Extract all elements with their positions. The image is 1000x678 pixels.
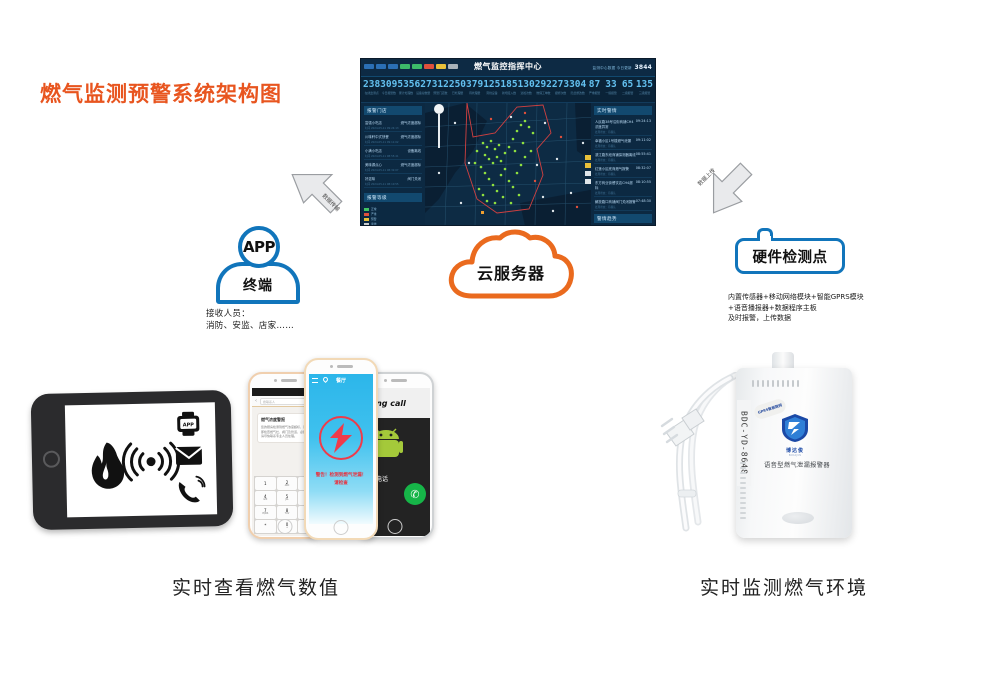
svg-text:APP: APP — [183, 422, 195, 428]
vent-slot — [740, 487, 746, 489]
legend-label: 正常 — [371, 207, 377, 211]
kpi-value: 135 — [636, 80, 653, 90]
app-label: APP — [243, 238, 275, 256]
store-status: 燃气浓度超标 — [401, 134, 421, 139]
pie-legend: 正常严重预警离线 — [364, 207, 422, 226]
home-button[interactable] — [278, 519, 293, 534]
store-status: 设备离线 — [407, 148, 421, 153]
vent-slot — [787, 380, 789, 387]
store-status: 燃气浓度超标 — [401, 120, 421, 125]
city-map[interactable] — [425, 103, 591, 226]
store-name: 富强小吃店 — [365, 120, 382, 125]
phone-notch — [306, 360, 376, 372]
legend-swatch — [364, 213, 369, 216]
left-panel-title: 报警门店 — [364, 106, 422, 115]
detector-speaker — [782, 512, 814, 524]
alarm-sub: 处理状态：待确认 — [595, 172, 651, 176]
kpi-item[interactable]: 535累计处理数 — [397, 80, 414, 100]
kpi-value: 65 — [619, 80, 636, 90]
lightning-bolt-icon — [328, 423, 354, 453]
vent-slot — [782, 380, 784, 387]
cloud-server-node: 云服务器 — [446, 228, 576, 302]
alarm-time: 08:55:41 — [636, 152, 651, 157]
detector-brand: 博达俊 — [778, 447, 812, 454]
detector-vents — [752, 380, 836, 387]
app-head-shape: APP — [238, 226, 280, 268]
kpi-label: 已处理量 — [449, 92, 466, 95]
header-chip[interactable] — [400, 64, 410, 69]
store-status: 燃气浓度超标 — [401, 162, 421, 167]
header-stat-value: 3844 — [635, 64, 653, 71]
alarm-sub: 处理状态：待确认 — [595, 205, 651, 209]
alert-message: 警告！检测到燃气泄漏！ 请检查 — [309, 472, 373, 488]
alarm-text: 幸福小区1号楼燃气泄漏 — [595, 138, 631, 143]
kpi-label: 维保工单数 — [535, 92, 552, 95]
key-letters: TUV — [285, 513, 289, 515]
store-name: 好滋味 — [365, 176, 375, 181]
store-time: 时间 2024-05-11 09:11:02 — [365, 140, 421, 144]
legend-item: 正常 — [364, 207, 422, 211]
shield-logo-icon — [782, 414, 808, 442]
home-button[interactable] — [388, 519, 403, 534]
speaker-bar — [281, 379, 297, 382]
kpi-label: 一级报警 — [603, 92, 620, 95]
store-time: 时间 2024-05-11 08:10:55 — [365, 182, 421, 186]
legend-item: 严重 — [364, 212, 422, 216]
hw-caption-line2: +语音播报器+数据程序主板 — [728, 303, 918, 314]
detector-brand-block: 博达俊 BODAJUN — [778, 414, 812, 457]
vent-slot — [740, 517, 746, 519]
keypad-key[interactable]: 5JKL — [277, 491, 298, 504]
kpi-value: 273 — [552, 80, 569, 90]
key-letters: GHI — [263, 499, 267, 501]
vent-slot — [752, 380, 754, 387]
store-time: 时间 2024-05-11 08:32:07 — [365, 168, 421, 172]
kpi-item[interactable]: 65二级报警 — [619, 80, 636, 100]
alarm-time: 08:10:55 — [636, 180, 651, 190]
trend-chart-title: 警情趋势 — [594, 214, 652, 223]
app-terminal-node: 终端 APP — [216, 226, 300, 304]
keypad-key[interactable]: 1 — [255, 477, 276, 490]
key-letters: JKL — [285, 499, 288, 501]
home-button[interactable] — [43, 451, 60, 468]
kpi-label: 严重报警 — [586, 92, 603, 95]
signal-wave-icon — [123, 443, 179, 480]
header-chip[interactable] — [424, 64, 434, 69]
landscape-phone: APP — [32, 392, 232, 532]
vent-slot — [792, 380, 794, 387]
kpi-value: 627 — [415, 80, 432, 90]
legend-item: 离线 — [364, 222, 422, 226]
keypad-key[interactable]: 4GHI — [255, 491, 276, 504]
dashboard-header-chips — [364, 64, 458, 69]
alarm-sub: 处理状态：待确认 — [595, 130, 651, 134]
speaker-bar — [391, 379, 407, 382]
bubble-tail-mask — [760, 236, 771, 242]
header-chip[interactable] — [448, 64, 458, 69]
vent-slot — [740, 477, 746, 479]
detector-brand-sub: BODAJUN — [778, 454, 812, 457]
vent-slot — [772, 380, 774, 387]
kpi-value: 125 — [483, 80, 500, 90]
data-flow-arrow-left — [284, 162, 350, 221]
sms-title: 燃气浓度警报 — [261, 417, 309, 423]
vent-slot — [797, 380, 799, 387]
vent-slot — [740, 502, 746, 504]
store-name: 小满小吃店 — [365, 148, 382, 153]
kpi-label: 累计处理数 — [397, 92, 414, 95]
alarm-store-row[interactable]: 富强小吃店燃气浓度超标时间 2024-05-11 09:24:13 — [364, 118, 422, 132]
kpi-item[interactable]: 379待处理量 — [466, 80, 483, 100]
hardware-caption: 内置传感器+移动网络模块+智能GPRS模块 +语音播报器+数据程序主板 及时报警… — [728, 292, 918, 324]
arrow-right-group: 数据上传 — [688, 162, 772, 226]
alarm-text: 滨江路东段商铺探测器离线 — [595, 152, 636, 157]
kpi-label: 隐患整改数 — [569, 92, 586, 95]
realtime-alarm-row[interactable]: 东方商业街餐饮店CH4超标08:10:55处理状态：待确认 — [594, 178, 652, 197]
vent-slot — [740, 482, 746, 484]
store-name: 川味轩中式快餐 — [365, 134, 389, 139]
caption-right: 实时监测燃气环境 — [700, 573, 868, 600]
legend-label: 离线 — [371, 222, 377, 226]
header-chip[interactable] — [364, 64, 374, 69]
caption-left: 实时查看燃气数值 — [172, 573, 340, 600]
vent-slot — [740, 462, 746, 464]
store-time: 时间 2024-05-11 09:24:13 — [365, 126, 421, 130]
kpi-value: 292 — [535, 80, 552, 90]
alarm-text: 东方商业街餐饮店CH4超标 — [595, 180, 636, 190]
vent-slot — [767, 380, 769, 387]
kpi-item[interactable]: 273报修次数 — [552, 80, 569, 100]
realtime-alarm-row[interactable]: 红莲小区底商燃气报警08:32:07处理状态：待确认 — [594, 164, 652, 178]
keypad-key[interactable]: 8TUV — [277, 506, 298, 519]
camera-dot — [274, 379, 277, 382]
envelope-icon — [176, 447, 202, 466]
kpi-item[interactable]: 125离线设备 — [483, 80, 500, 100]
alert-screen: 餐厅 警告！检测到燃气泄漏！ 请检查 — [309, 374, 373, 524]
alarm-text: 人民路38号沿街商铺CH4浓度异常 — [595, 119, 636, 129]
vent-slot — [757, 380, 759, 387]
legend-title: 报警等级 — [364, 193, 422, 202]
kpi-label: 预警门店数 — [432, 92, 449, 95]
cloud-server-label: 云服务器 — [446, 228, 576, 302]
kpi-item[interactable]: 185新增接入数 — [500, 80, 517, 100]
kpi-value: 33 — [603, 80, 620, 90]
legend-label: 预警 — [371, 217, 377, 221]
kpi-value: 304 — [569, 80, 586, 90]
header-chip[interactable] — [388, 64, 398, 69]
kpi-value: 238 — [363, 80, 380, 90]
detector-side-vents — [740, 462, 746, 528]
kpi-item[interactable]: 130巡检次数 — [518, 80, 535, 100]
kpi-label: 二级报警 — [619, 92, 636, 95]
kpi-label: 今日报警数 — [380, 92, 397, 95]
dashboard-right-panel: 实时警情 人民路38号沿街商铺CH4浓度异常09:24:13处理状态：待确认幸福… — [591, 103, 655, 226]
dashboard-header-stat: 监测中心数据 今日更新 3844 — [593, 64, 652, 71]
hardware-node: 硬件检测点 — [735, 238, 845, 278]
legend-swatch — [364, 218, 369, 221]
data-flow-arrow-right — [694, 162, 760, 221]
right-panel-title: 实时警情 — [594, 106, 652, 115]
smartwatch-app-icon: APP — [177, 412, 199, 436]
phone-body: APP — [31, 390, 234, 530]
arrow-left-group: 数据传输 — [278, 162, 362, 226]
kpi-item[interactable]: 33一级报警 — [603, 80, 620, 100]
kpi-item[interactable]: 309今日报警数 — [380, 80, 397, 100]
kpi-label: 离线设备 — [483, 92, 500, 95]
kpi-value: 379 — [466, 80, 483, 90]
gas-leak-warning-icon — [319, 416, 363, 460]
location-pin-icon — [322, 376, 329, 383]
vent-slot — [740, 512, 746, 514]
keypad-key[interactable]: 2ABC — [277, 477, 298, 490]
realtime-alarm-row[interactable]: 解放路口商铺阀门关闭报警07:48:30处理状态：待确认 — [594, 197, 652, 211]
kpi-value: 535 — [397, 80, 414, 90]
alert-app-bar: 餐厅 — [309, 374, 373, 386]
kpi-value: 250 — [449, 80, 466, 90]
kpi-item[interactable]: 250已处理量 — [449, 80, 466, 100]
store-time: 时间 2024-05-11 08:55:41 — [365, 154, 421, 158]
kpi-label: 在线监测点 — [363, 92, 380, 95]
alarm-store-list[interactable]: 富强小吃店燃气浓度超标时间 2024-05-11 09:24:13川味轩中式快餐… — [364, 118, 422, 188]
alarm-time: 09:24:13 — [636, 119, 651, 129]
alarm-time: 08:32:07 — [636, 166, 651, 171]
speaker-bar — [337, 365, 353, 368]
kpi-value: 185 — [500, 80, 517, 90]
kpi-label: 待处理量 — [466, 92, 483, 95]
legend-item: 预警 — [364, 217, 422, 221]
vent-slot — [762, 380, 764, 387]
menu-icon[interactable] — [312, 378, 318, 383]
camera-dot — [384, 379, 387, 382]
dashboard-title: 燃气监控指挥中心 — [474, 61, 542, 72]
kpi-item[interactable]: 627设备总数量 — [415, 80, 432, 100]
app-caption: 接收人员： 消防、安监、店家…… — [206, 308, 294, 333]
alarm-sub: 处理状态：待确认 — [595, 158, 651, 162]
hardware-bubble: 硬件检测点 — [735, 238, 845, 274]
header-stat-label: 监测中心数据 今日更新 — [593, 66, 632, 70]
realtime-alarm-row[interactable]: 幸福小区1号楼燃气泄漏09:11:02处理状态：待确认 — [594, 136, 652, 150]
alarm-store-row[interactable]: 美味源点心燃气浓度超标时间 2024-05-11 08:32:07 — [364, 160, 422, 174]
vent-slot — [740, 507, 746, 509]
alert-line-1: 警告！检测到燃气泄漏！ — [309, 472, 373, 480]
kpi-label: 新增接入数 — [500, 92, 517, 95]
detector-product-name: 语音型燃气泄漏报警器 — [756, 460, 838, 469]
kpi-label: 巡检次数 — [518, 92, 535, 95]
kpi-strip: 238在线监测点309今日报警数535累计处理数627设备总数量312预警门店数… — [361, 77, 655, 103]
sms-body: 您的厨房检测到燃气浓度超标，请立即检查燃气灶、阀门及管道，必要时请尽快联系专业人… — [261, 425, 309, 439]
page-title: 燃气监测预警系统架构图 — [40, 78, 282, 108]
answer-call-button[interactable]: ✆ — [404, 483, 426, 505]
header-chip[interactable] — [376, 64, 386, 69]
alert-screen-title: 餐厅 — [336, 377, 346, 384]
alarm-store-row[interactable]: 好滋味阀门关闭时间 2024-05-11 08:10:55 — [364, 174, 422, 188]
dashboard-header: 燃气监控指挥中心 监测中心数据 今日更新 3844 — [361, 59, 655, 77]
key-number: 1 — [264, 482, 267, 486]
hw-caption-line1: 内置传感器+移动网络模块+智能GPRS模块 — [728, 292, 918, 303]
phone-screen-icons: APP — [65, 402, 217, 517]
vent-slot — [740, 492, 746, 494]
kpi-label: 三级报警 — [636, 92, 653, 95]
dashboard-body: 报警门店 富强小吃店燃气浓度超标时间 2024-05-11 09:24:13川味… — [361, 103, 655, 226]
vent-slot — [740, 497, 746, 499]
kpi-item[interactable]: 87严重报警 — [586, 80, 603, 100]
legend-label: 严重 — [371, 212, 377, 216]
gas-detector-device: BDC-YD-8648 GPRS智能联网 博达俊 BODAJUN 语音型燃气泄漏… — [660, 352, 912, 552]
header-chip[interactable] — [436, 64, 446, 69]
monitoring-dashboard: 燃气监控指挥中心 监测中心数据 今日更新 3844 238在线监测点309今日报… — [360, 58, 656, 226]
vent-slot — [777, 380, 779, 387]
kpi-item[interactable]: 135三级报警 — [636, 80, 653, 100]
realtime-alarm-row[interactable]: 滨江路东段商铺探测器离线08:55:41处理状态：待确认 — [594, 150, 652, 164]
alarm-sub: 处理状态：待确认 — [595, 191, 651, 195]
alarm-text: 红莲小区底商燃气报警 — [595, 166, 629, 171]
dashboard-left-panel: 报警门店 富强小吃店燃气浓度超标时间 2024-05-11 09:24:13川味… — [361, 103, 425, 226]
key-number: * — [264, 524, 266, 528]
kpi-label: 设备总数量 — [415, 92, 432, 95]
store-name: 美味源点心 — [365, 162, 382, 167]
keypad-key[interactable]: 7PQRS — [255, 506, 276, 519]
alarm-time: 07:48:30 — [636, 199, 651, 204]
legend-swatch — [364, 223, 369, 226]
key-letters: PQRS — [262, 513, 268, 515]
kpi-label: 报修次数 — [552, 92, 569, 95]
vent-slot — [740, 467, 746, 469]
store-status: 阀门关闭 — [407, 176, 421, 181]
app-caption-line2: 消防、安监、店家…… — [206, 320, 294, 332]
gas-alert-phone: 餐厅 警告！检测到燃气泄漏！ 请检查 — [304, 358, 378, 540]
camera-dot — [330, 365, 333, 368]
hw-caption-line3: 及时报警，上传数据 — [728, 313, 918, 324]
back-icon[interactable]: ‹ — [255, 398, 257, 404]
legend-swatch — [364, 208, 369, 211]
map-svg — [425, 103, 591, 226]
kpi-item[interactable]: 292维保工单数 — [535, 80, 552, 100]
kpi-item[interactable]: 312预警门店数 — [432, 80, 449, 100]
realtime-alarm-row[interactable]: 人民路38号沿街商铺CH4浓度异常09:24:13处理状态：待确认 — [594, 117, 652, 136]
app-caption-line1: 接收人员： — [206, 308, 294, 320]
header-chip[interactable] — [412, 64, 422, 69]
alarm-sub: 处理状态：待确认 — [595, 144, 651, 148]
kpi-value: 312 — [432, 80, 449, 90]
realtime-alarm-list[interactable]: 人民路38号沿街商铺CH4浓度异常09:24:13处理状态：待确认幸福小区1号楼… — [594, 117, 652, 211]
kpi-value: 309 — [380, 80, 397, 90]
kpi-item[interactable]: 304隐患整改数 — [569, 80, 586, 100]
terminal-label: 终端 — [243, 275, 273, 295]
kpi-value: 87 — [586, 80, 603, 90]
alert-line-2: 请检查 — [309, 480, 373, 488]
alarm-text: 解放路口商铺阀门关闭报警 — [595, 199, 636, 204]
keypad-key[interactable]: * — [255, 520, 276, 533]
kpi-item[interactable]: 238在线监测点 — [363, 80, 380, 100]
key-letters: ABC — [285, 485, 290, 487]
alarm-store-row[interactable]: 川味轩中式快餐燃气浓度超标时间 2024-05-11 09:11:02 — [364, 132, 422, 146]
cable-tie — [678, 490, 696, 497]
hardware-label: 硬件检测点 — [753, 246, 828, 267]
alarm-store-row[interactable]: 小满小吃店设备离线时间 2024-05-11 08:55:41 — [364, 146, 422, 160]
kpi-value: 130 — [518, 80, 535, 90]
phone-cluster: ‹ 搜联系人 燃气浓度警报 您的厨房检测到燃气浓度超标，请立即检查燃气灶、阀门及… — [248, 358, 434, 543]
fire-icon — [91, 442, 124, 489]
home-button[interactable] — [334, 520, 349, 535]
phone-ring-icon — [179, 476, 205, 502]
vent-slot — [740, 472, 746, 474]
terminal-body-shape: 终端 — [216, 262, 300, 304]
alarm-time: 09:11:02 — [636, 138, 651, 143]
